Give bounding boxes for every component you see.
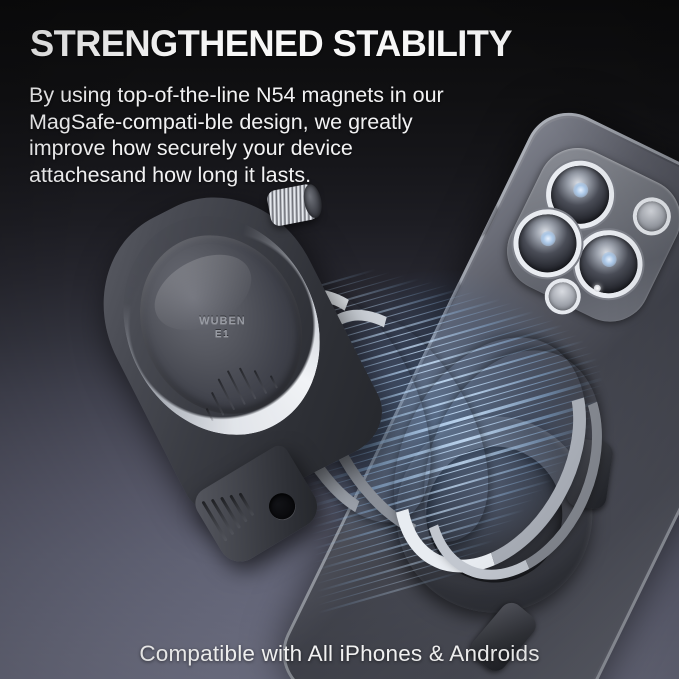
body-line: improve how securely your device (29, 135, 499, 162)
tail-ridge (220, 497, 241, 529)
body-line: MagSafe-compati-ble design, we greatly (29, 109, 499, 136)
grip-groove (254, 370, 268, 394)
grip-groove (270, 375, 278, 388)
page-title: STRENGTHENED STABILITY (30, 23, 512, 65)
keyring-hole (264, 488, 300, 524)
model-mark: E1 (199, 329, 246, 340)
lens-glint (538, 229, 558, 249)
camera-lens-telephoto-icon (570, 225, 648, 303)
grip-groove (211, 392, 225, 416)
brand-mark: WUBEN (199, 315, 246, 327)
lens-glint (599, 250, 619, 270)
body-line: By using top-of-the-line N54 magnets in … (29, 82, 499, 109)
knurled-knob (266, 183, 320, 227)
puck-branding: WUBEN E1 (199, 315, 246, 340)
lidar-sensor-icon (632, 196, 672, 236)
compatibility-caption: Compatible with All iPhones & Androids (0, 641, 679, 667)
product-feature-image: WUBEN E1 STRENGTHENED STABILITY By using… (0, 0, 679, 679)
lens-glint (570, 180, 590, 200)
